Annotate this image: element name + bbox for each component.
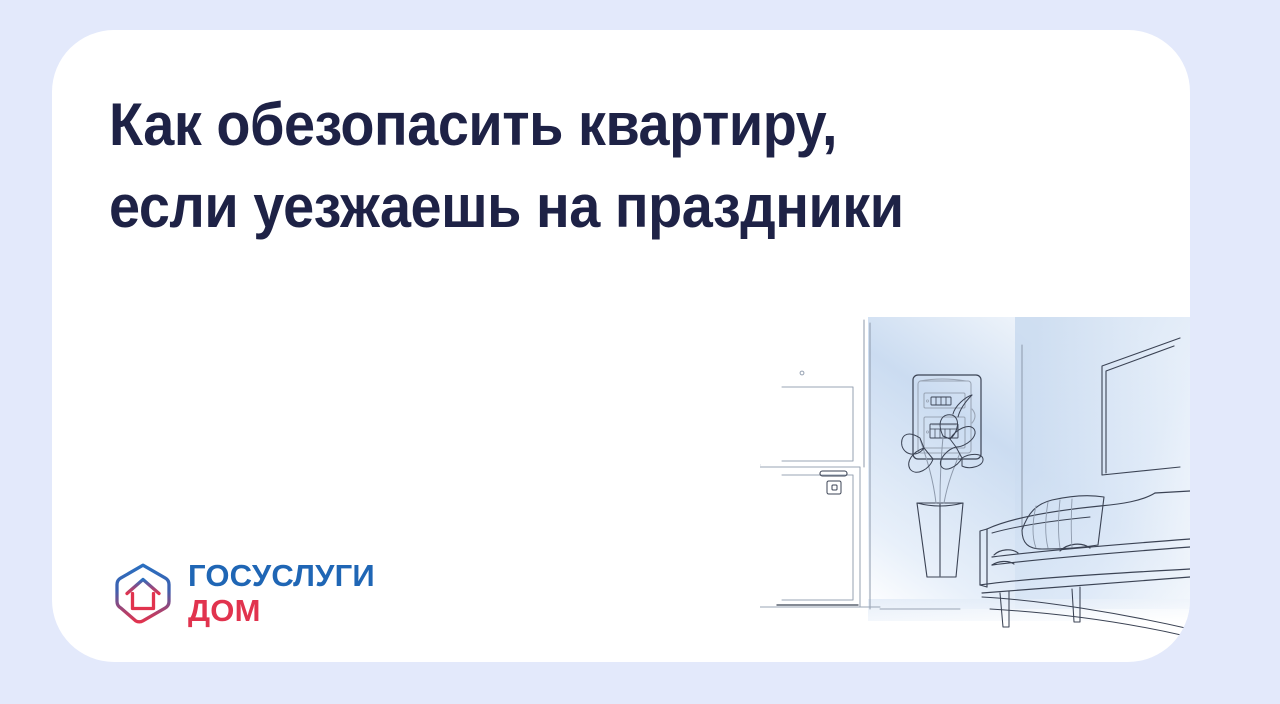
page-title: Как обезопасить квартиру, если уезжаешь … bbox=[109, 84, 993, 248]
door-lock bbox=[827, 481, 841, 494]
page-title-line-1: Как обезопасить квартиру, bbox=[109, 84, 993, 166]
hexagon-house-icon bbox=[112, 562, 174, 624]
door-peephole bbox=[800, 371, 804, 375]
page-title-line-2: если уезжаешь на праздники bbox=[109, 166, 993, 248]
gosuslugi-dom-logo[interactable]: ГОСУСЛУГИ ДОМ bbox=[112, 560, 375, 626]
logo-word-dom: ДОМ bbox=[188, 595, 375, 626]
apartment-interior-illustration bbox=[760, 317, 1190, 662]
entry-door bbox=[760, 465, 860, 607]
poster-root: Как обезопасить квартиру, если уезжаешь … bbox=[0, 0, 1280, 704]
logo-wordmark: ГОСУСЛУГИ ДОМ bbox=[188, 560, 375, 626]
content-card: Как обезопасить квартиру, если уезжаешь … bbox=[52, 30, 1190, 662]
wall-background bbox=[868, 317, 1190, 621]
logo-word-gosuslugi: ГОСУСЛУГИ bbox=[188, 560, 375, 591]
door-top-panel bbox=[782, 387, 853, 461]
